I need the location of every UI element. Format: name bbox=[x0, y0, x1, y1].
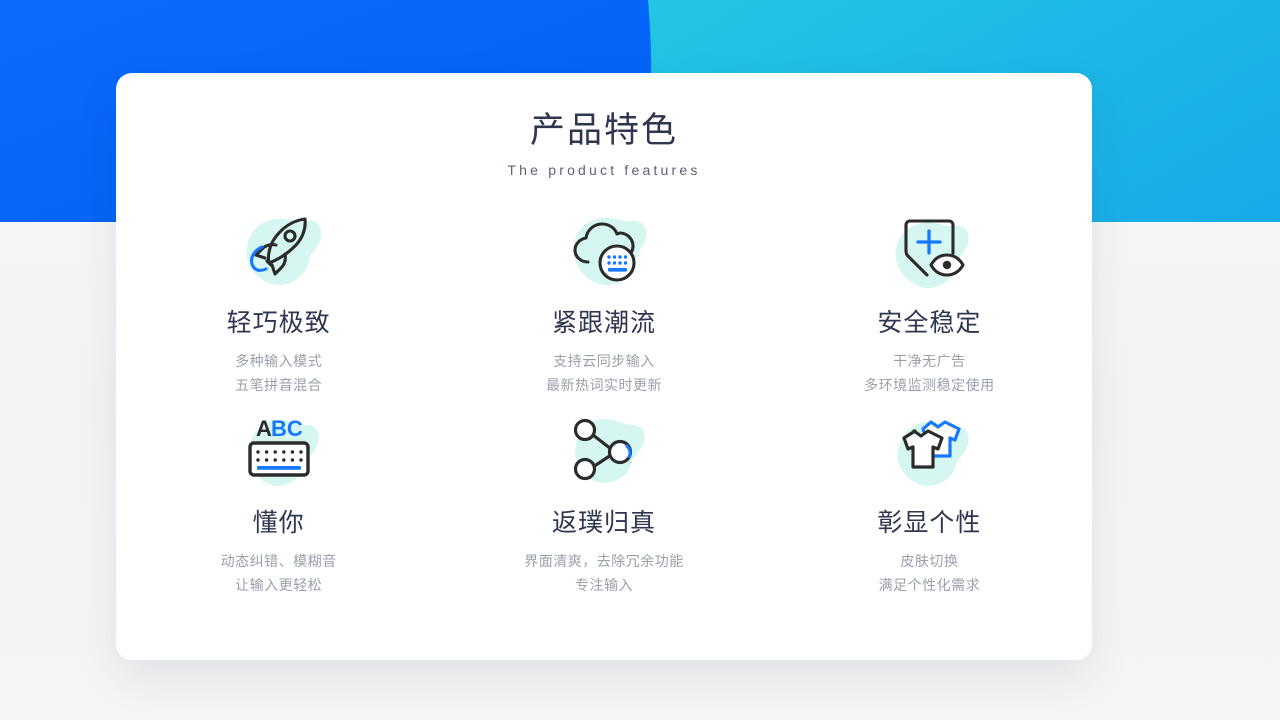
feature-desc-line-1: 皮肤切换 bbox=[879, 549, 981, 573]
feature-item-rocket[interactable]: 轻巧极致 多种输入模式 五笔拼音混合 bbox=[116, 207, 441, 407]
page-title: 产品特色 bbox=[116, 108, 1092, 154]
feature-desc-line-1: 干净无广告 bbox=[864, 349, 995, 373]
feature-item-skins[interactable]: 彰显个性 皮肤切换 满足个性化需求 bbox=[767, 407, 1092, 607]
rocket-icon bbox=[229, 207, 329, 295]
feature-desc-line-2: 多环境监测稳定使用 bbox=[864, 373, 995, 397]
feature-desc-line-2: 让输入更轻松 bbox=[221, 573, 337, 597]
feature-desc-line-1: 动态纠错、模糊音 bbox=[221, 549, 337, 573]
feature-description: 多种输入模式 五笔拼音混合 bbox=[235, 349, 322, 397]
tshirt-skins-icon bbox=[879, 407, 979, 495]
feature-desc-line-1: 多种输入模式 bbox=[235, 349, 322, 373]
abc-keyboard-icon: A BC bbox=[229, 407, 329, 495]
feature-item-security[interactable]: 安全稳定 干净无广告 多环境监测稳定使用 bbox=[767, 207, 1092, 407]
cloud-keyboard-icon bbox=[554, 207, 654, 295]
feature-title: 返璞归真 bbox=[552, 507, 656, 539]
feature-title: 紧跟潮流 bbox=[552, 307, 656, 339]
features-grid: 轻巧极致 多种输入模式 五笔拼音混合 bbox=[116, 207, 1092, 607]
feature-description: 界面清爽，去除冗余功能 专注输入 bbox=[524, 549, 684, 597]
feature-description: 支持云同步输入 最新热词实时更新 bbox=[546, 349, 662, 397]
page-subtitle: The product features bbox=[116, 162, 1092, 178]
feature-desc-line-2: 五笔拼音混合 bbox=[235, 373, 322, 397]
feature-item-smart-input[interactable]: A BC 懂你 动态纠错、模糊音 让输入更轻松 bbox=[116, 407, 441, 607]
feature-desc-line-1: 支持云同步输入 bbox=[546, 349, 662, 373]
feature-title: 安全稳定 bbox=[877, 307, 981, 339]
feature-title: 懂你 bbox=[253, 507, 305, 539]
feature-description: 皮肤切换 满足个性化需求 bbox=[879, 549, 981, 597]
feature-desc-line-1: 界面清爽，去除冗余功能 bbox=[524, 549, 684, 573]
feature-desc-line-2: 最新热词实时更新 bbox=[546, 373, 662, 397]
feature-card: 产品特色 The product features 轻巧极致 bbox=[116, 73, 1092, 660]
abc-letter-bc: BC bbox=[271, 416, 303, 441]
feature-description: 干净无广告 多环境监测稳定使用 bbox=[864, 349, 995, 397]
feature-title: 彰显个性 bbox=[877, 507, 981, 539]
abc-letter-a: A bbox=[256, 416, 272, 441]
feature-item-simplicity[interactable]: 返璞归真 界面清爽，去除冗余功能 专注输入 bbox=[441, 407, 766, 607]
feature-description: 动态纠错、模糊音 让输入更轻松 bbox=[221, 549, 337, 597]
feature-desc-line-2: 专注输入 bbox=[524, 573, 684, 597]
feature-desc-line-2: 满足个性化需求 bbox=[879, 573, 981, 597]
shield-plus-eye-icon bbox=[879, 207, 979, 295]
feature-item-cloud[interactable]: 紧跟潮流 支持云同步输入 最新热词实时更新 bbox=[441, 207, 766, 407]
feature-title: 轻巧极致 bbox=[227, 307, 331, 339]
card-header: 产品特色 The product features bbox=[116, 73, 1092, 178]
share-nodes-icon bbox=[554, 407, 654, 495]
